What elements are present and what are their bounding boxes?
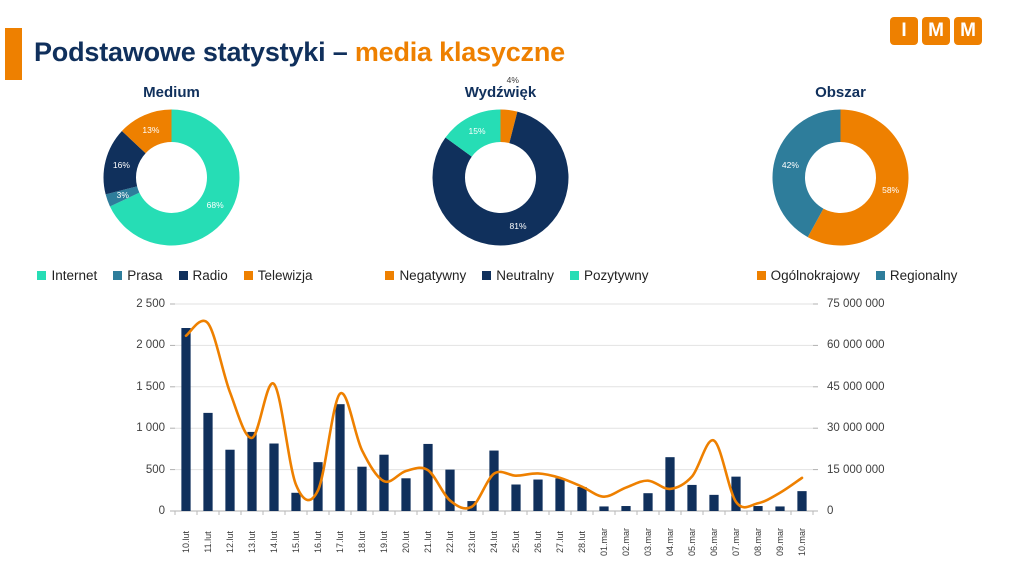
logo-letter-m2: M (954, 17, 982, 45)
x-axis-tick-label: 24.lut (489, 522, 499, 562)
legend-item-negatywny[interactable]: Negatywny (385, 268, 466, 283)
chart-bar[interactable] (533, 480, 542, 511)
legend-label: Neutralny (496, 268, 554, 283)
left-axis-tick-label: 1 500 (136, 381, 165, 393)
x-axis-tick-label: 23.lut (467, 522, 477, 562)
page-title: Podstawowe statystyki – media klasyczne (34, 37, 565, 68)
chart-bar[interactable] (511, 485, 520, 511)
chart-bar[interactable] (709, 495, 718, 511)
x-axis-tick-label: 15.lut (291, 522, 301, 562)
chart-bar[interactable] (599, 506, 608, 511)
legend-label: Negatywny (399, 268, 466, 283)
legend-swatch-icon (179, 271, 188, 280)
x-axis-tick-label: 13.lut (247, 522, 257, 562)
right-axis-tick-label: 75 000 000 (827, 298, 885, 310)
imm-logo: I M M (890, 17, 982, 45)
x-axis-tick-label: 08.mar (753, 522, 763, 562)
chart-bar[interactable] (665, 457, 674, 511)
x-axis-tick-label: 11.lut (203, 522, 213, 562)
chart-bar[interactable] (445, 470, 454, 511)
chart-bar[interactable] (577, 487, 586, 511)
chart-bar[interactable] (621, 506, 630, 511)
left-axis-tick-label: 2 500 (136, 298, 165, 310)
left-axis-tick-label: 2 000 (136, 339, 165, 351)
chart-bar[interactable] (247, 432, 256, 511)
x-axis-tick-label: 04.mar (665, 522, 675, 562)
donut-panel-wydwik: Wydźwięk4%81%15% (330, 84, 671, 289)
chart-bar[interactable] (291, 493, 300, 511)
chart-bar[interactable] (643, 493, 652, 511)
legend-label: Internet (51, 268, 97, 283)
chart-bar[interactable] (687, 485, 696, 511)
legend-label: Telewizja (258, 268, 313, 283)
chart-bar[interactable] (401, 478, 410, 511)
x-axis-tick-label: 19.lut (379, 522, 389, 562)
x-axis-tick-label: 12.lut (225, 522, 235, 562)
legend-swatch-icon (757, 271, 766, 280)
donut-chart: 58%42% (768, 105, 913, 250)
legend-label: Prasa (127, 268, 162, 283)
chart-bar[interactable] (555, 478, 564, 511)
x-axis-tick-label: 27.lut (555, 522, 565, 562)
donut-title: Obszar (670, 84, 1011, 101)
legend-label: Radio (193, 268, 228, 283)
x-axis-tick-label: 25.lut (511, 522, 521, 562)
left-axis-tick-label: 500 (146, 464, 165, 476)
donut-chart: 4%81%15% (428, 105, 573, 250)
x-axis-tick-label: 17.lut (335, 522, 345, 562)
left-axis-tick-label: 0 (159, 505, 165, 517)
right-axis-tick-label: 60 000 000 (827, 339, 885, 351)
x-axis-tick-label: 03.mar (643, 522, 653, 562)
x-axis-tick-label: 28.lut (577, 522, 587, 562)
x-axis-tick-label: 07.mar (731, 522, 741, 562)
logo-letter-m1: M (922, 17, 950, 45)
right-axis-tick-label: 0 (827, 505, 833, 517)
donut-legend-wydwik: NegatywnyNeutralnyPozytywny (352, 264, 682, 286)
legend-swatch-icon (113, 271, 122, 280)
legend-swatch-icon (385, 271, 394, 280)
legend-label: Regionalny (890, 268, 958, 283)
donut-panel-obszar: Obszar58%42% (670, 84, 1011, 289)
legend-swatch-icon (570, 271, 579, 280)
x-axis-tick-label: 10.lut (181, 522, 191, 562)
chart-bar[interactable] (269, 444, 278, 511)
x-axis-tick-label: 05.mar (687, 522, 697, 562)
right-axis-tick-label: 45 000 000 (827, 381, 885, 393)
left-axis-tick-label: 1 000 (136, 422, 165, 434)
legend-item-telewizja[interactable]: Telewizja (244, 268, 313, 283)
legend-item-prasa[interactable]: Prasa (113, 268, 162, 283)
donut-legend-obszar: OgólnokrajowyRegionalny (690, 264, 1024, 286)
chart-bar[interactable] (335, 404, 344, 511)
x-axis-tick-label: 16.lut (313, 522, 323, 562)
page-title-main: Podstawowe statystyki – (34, 37, 355, 67)
legend-swatch-icon (244, 271, 253, 280)
x-axis-tick-label: 22.lut (445, 522, 455, 562)
right-axis-tick-label: 30 000 000 (827, 422, 885, 434)
chart-bar[interactable] (203, 413, 212, 511)
x-axis-tick-label: 14.lut (269, 522, 279, 562)
x-axis-tick-label: 01.mar (599, 522, 609, 562)
legend-item-oglnokrajowy[interactable]: Ogólnokrajowy (757, 268, 860, 283)
x-axis-tick-label: 02.mar (621, 522, 631, 562)
logo-letter-i: I (890, 17, 918, 45)
x-axis-tick-label: 26.lut (533, 522, 543, 562)
donut-title: Wydźwięk (330, 84, 671, 101)
x-axis-tick-label: 18.lut (357, 522, 367, 562)
slide-root: Podstawowe statystyki – media klasyczne … (0, 0, 1024, 576)
donut-chart: 68%3%16%13% (99, 105, 244, 250)
legend-swatch-icon (482, 271, 491, 280)
chart-bar[interactable] (357, 467, 366, 511)
donut-title: Medium (1, 84, 342, 101)
donut-legend-medium: InternetPrasaRadioTelewizja (0, 264, 350, 286)
donut-panel-medium: Medium68%3%16%13% (1, 84, 342, 289)
chart-bar[interactable] (775, 506, 784, 511)
chart-bar[interactable] (423, 444, 432, 511)
x-axis-tick-label: 06.mar (709, 522, 719, 562)
chart-bar[interactable] (181, 328, 190, 511)
legend-swatch-icon (37, 271, 46, 280)
x-axis-tick-label: 09.mar (775, 522, 785, 562)
legend-item-neutralny[interactable]: Neutralny (482, 268, 554, 283)
chart-bar[interactable] (225, 450, 234, 511)
chart-bar[interactable] (313, 462, 322, 511)
legend-item-internet[interactable]: Internet (37, 268, 97, 283)
chart-bar[interactable] (753, 506, 762, 511)
chart-bar[interactable] (797, 491, 806, 511)
x-axis-tick-label: 10.mar (797, 522, 807, 562)
publications-reach-combo-chart: Liczba publikacji Dotarcie Liczba publik… (0, 292, 1024, 576)
page-title-accent: media klasyczne (355, 37, 565, 67)
legend-item-regionalny[interactable]: Regionalny (876, 268, 958, 283)
right-axis-tick-label: 15 000 000 (827, 464, 885, 476)
x-axis-tick-label: 21.lut (423, 522, 433, 562)
legend-item-pozytywny[interactable]: Pozytywny (570, 268, 649, 283)
legend-label: Ogólnokrajowy (771, 268, 860, 283)
chart-bar[interactable] (489, 451, 498, 511)
title-accent-bar (5, 28, 22, 80)
x-axis-tick-label: 20.lut (401, 522, 411, 562)
legend-swatch-icon (876, 271, 885, 280)
legend-label: Pozytywny (584, 268, 649, 283)
legend-item-radio[interactable]: Radio (179, 268, 228, 283)
